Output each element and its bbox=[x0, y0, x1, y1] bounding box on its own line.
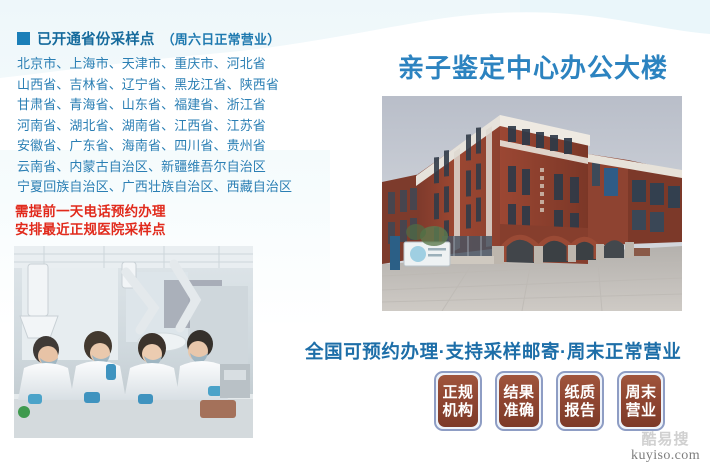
badge-line-2: 营业 bbox=[625, 402, 656, 419]
badge-item[interactable]: 正规 机构 bbox=[434, 371, 482, 431]
badge-line-1: 纸质 bbox=[564, 384, 595, 401]
badge-line-1: 结果 bbox=[503, 384, 534, 401]
badge-line-2: 机构 bbox=[442, 402, 473, 419]
badge-line-2: 准确 bbox=[503, 402, 534, 419]
alert-line: 需提前一天电话预约办理 bbox=[15, 203, 166, 221]
badge-item[interactable]: 纸质 报告 bbox=[556, 371, 604, 431]
badge-line-1: 周末 bbox=[625, 384, 656, 401]
tagline: 全国可预约办理·支持采样邮寄·周末正常营业 bbox=[305, 338, 681, 364]
heading-title: 已开通省份采样点 bbox=[37, 28, 155, 49]
feature-badges: 正规 机构 结果 准确 纸质 报告 周末 营业 bbox=[434, 371, 665, 431]
province-line: 山西省、吉林省、辽宁省、黑龙江省、陕西省 bbox=[17, 75, 317, 96]
poster-root: 已开通省份采样点 （周六日正常营业） 北京市、上海市、天津市、重庆市、河北省 山… bbox=[0, 0, 710, 470]
lab-photo bbox=[14, 246, 253, 438]
province-line: 云南省、内蒙古自治区、新疆维吾尔自治区 bbox=[17, 157, 317, 178]
province-line: 河南省、湖北省、湖南省、江西省、江苏省 bbox=[17, 116, 317, 137]
heading-note: （周六日正常营业） bbox=[162, 29, 281, 48]
alert-notice: 需提前一天电话预约办理 安排最近正规医院采样点 bbox=[15, 203, 166, 239]
province-list: 北京市、上海市、天津市、重庆市、河北省 山西省、吉林省、辽宁省、黑龙江省、陕西省… bbox=[17, 54, 317, 198]
province-line: 甘肃省、青海省、山东省、福建省、浙江省 bbox=[17, 95, 317, 116]
badge-item[interactable]: 结果 准确 bbox=[495, 371, 543, 431]
section-heading: 已开通省份采样点 （周六日正常营业） bbox=[17, 28, 280, 49]
badge-line-2: 报告 bbox=[564, 402, 595, 419]
left-column: 已开通省份采样点 （周六日正常营业） 北京市、上海市、天津市、重庆市、河北省 山… bbox=[0, 0, 330, 470]
badge-line-1: 正规 bbox=[442, 384, 473, 401]
alert-line: 安排最近正规医院采样点 bbox=[15, 221, 166, 239]
building-photo bbox=[382, 96, 682, 311]
page-title: 亲子鉴定中心办公大楼 bbox=[398, 48, 668, 85]
badge-item[interactable]: 周末 营业 bbox=[617, 371, 665, 431]
blue-square-bullet-icon bbox=[17, 32, 30, 45]
province-line: 北京市、上海市、天津市、重庆市、河北省 bbox=[17, 54, 317, 75]
province-line: 宁夏回族自治区、广西壮族自治区、西藏自治区 bbox=[17, 177, 317, 198]
province-line: 安徽省、广东省、海南省、四川省、贵州省 bbox=[17, 136, 317, 157]
